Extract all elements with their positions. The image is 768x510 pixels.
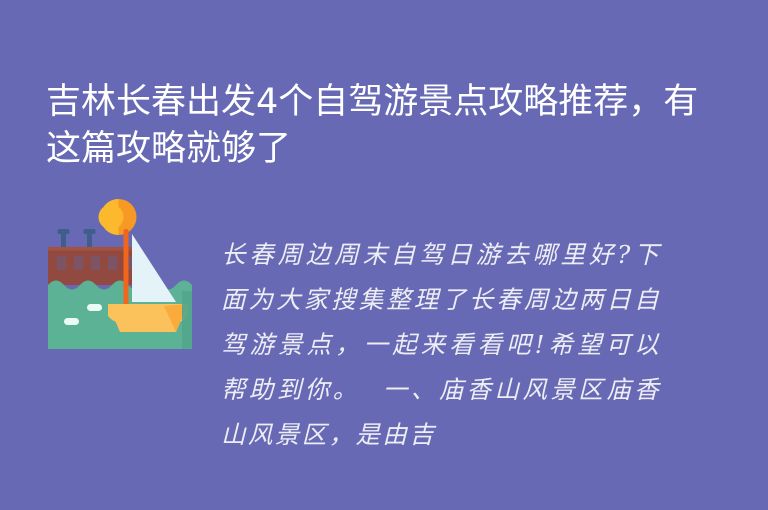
two-chimneys-icon bbox=[58, 229, 96, 249]
article-card: 吉林长春出发4个自驾游景点攻略推荐，有这篇攻略就够了 bbox=[0, 0, 768, 510]
seaside-harbor-sailboat-illustration bbox=[48, 196, 198, 349]
sun-icon bbox=[99, 199, 137, 235]
water-edge-shadow bbox=[182, 291, 192, 349]
page-title: 吉林长春出发4个自驾游景点攻略推荐，有这篇攻略就够了 bbox=[46, 79, 706, 173]
article-body-text: 长春周边周末自驾日游去哪里好?下面为大家搜集整理了长春周边两日自驾游景点，一起来… bbox=[221, 232, 661, 457]
